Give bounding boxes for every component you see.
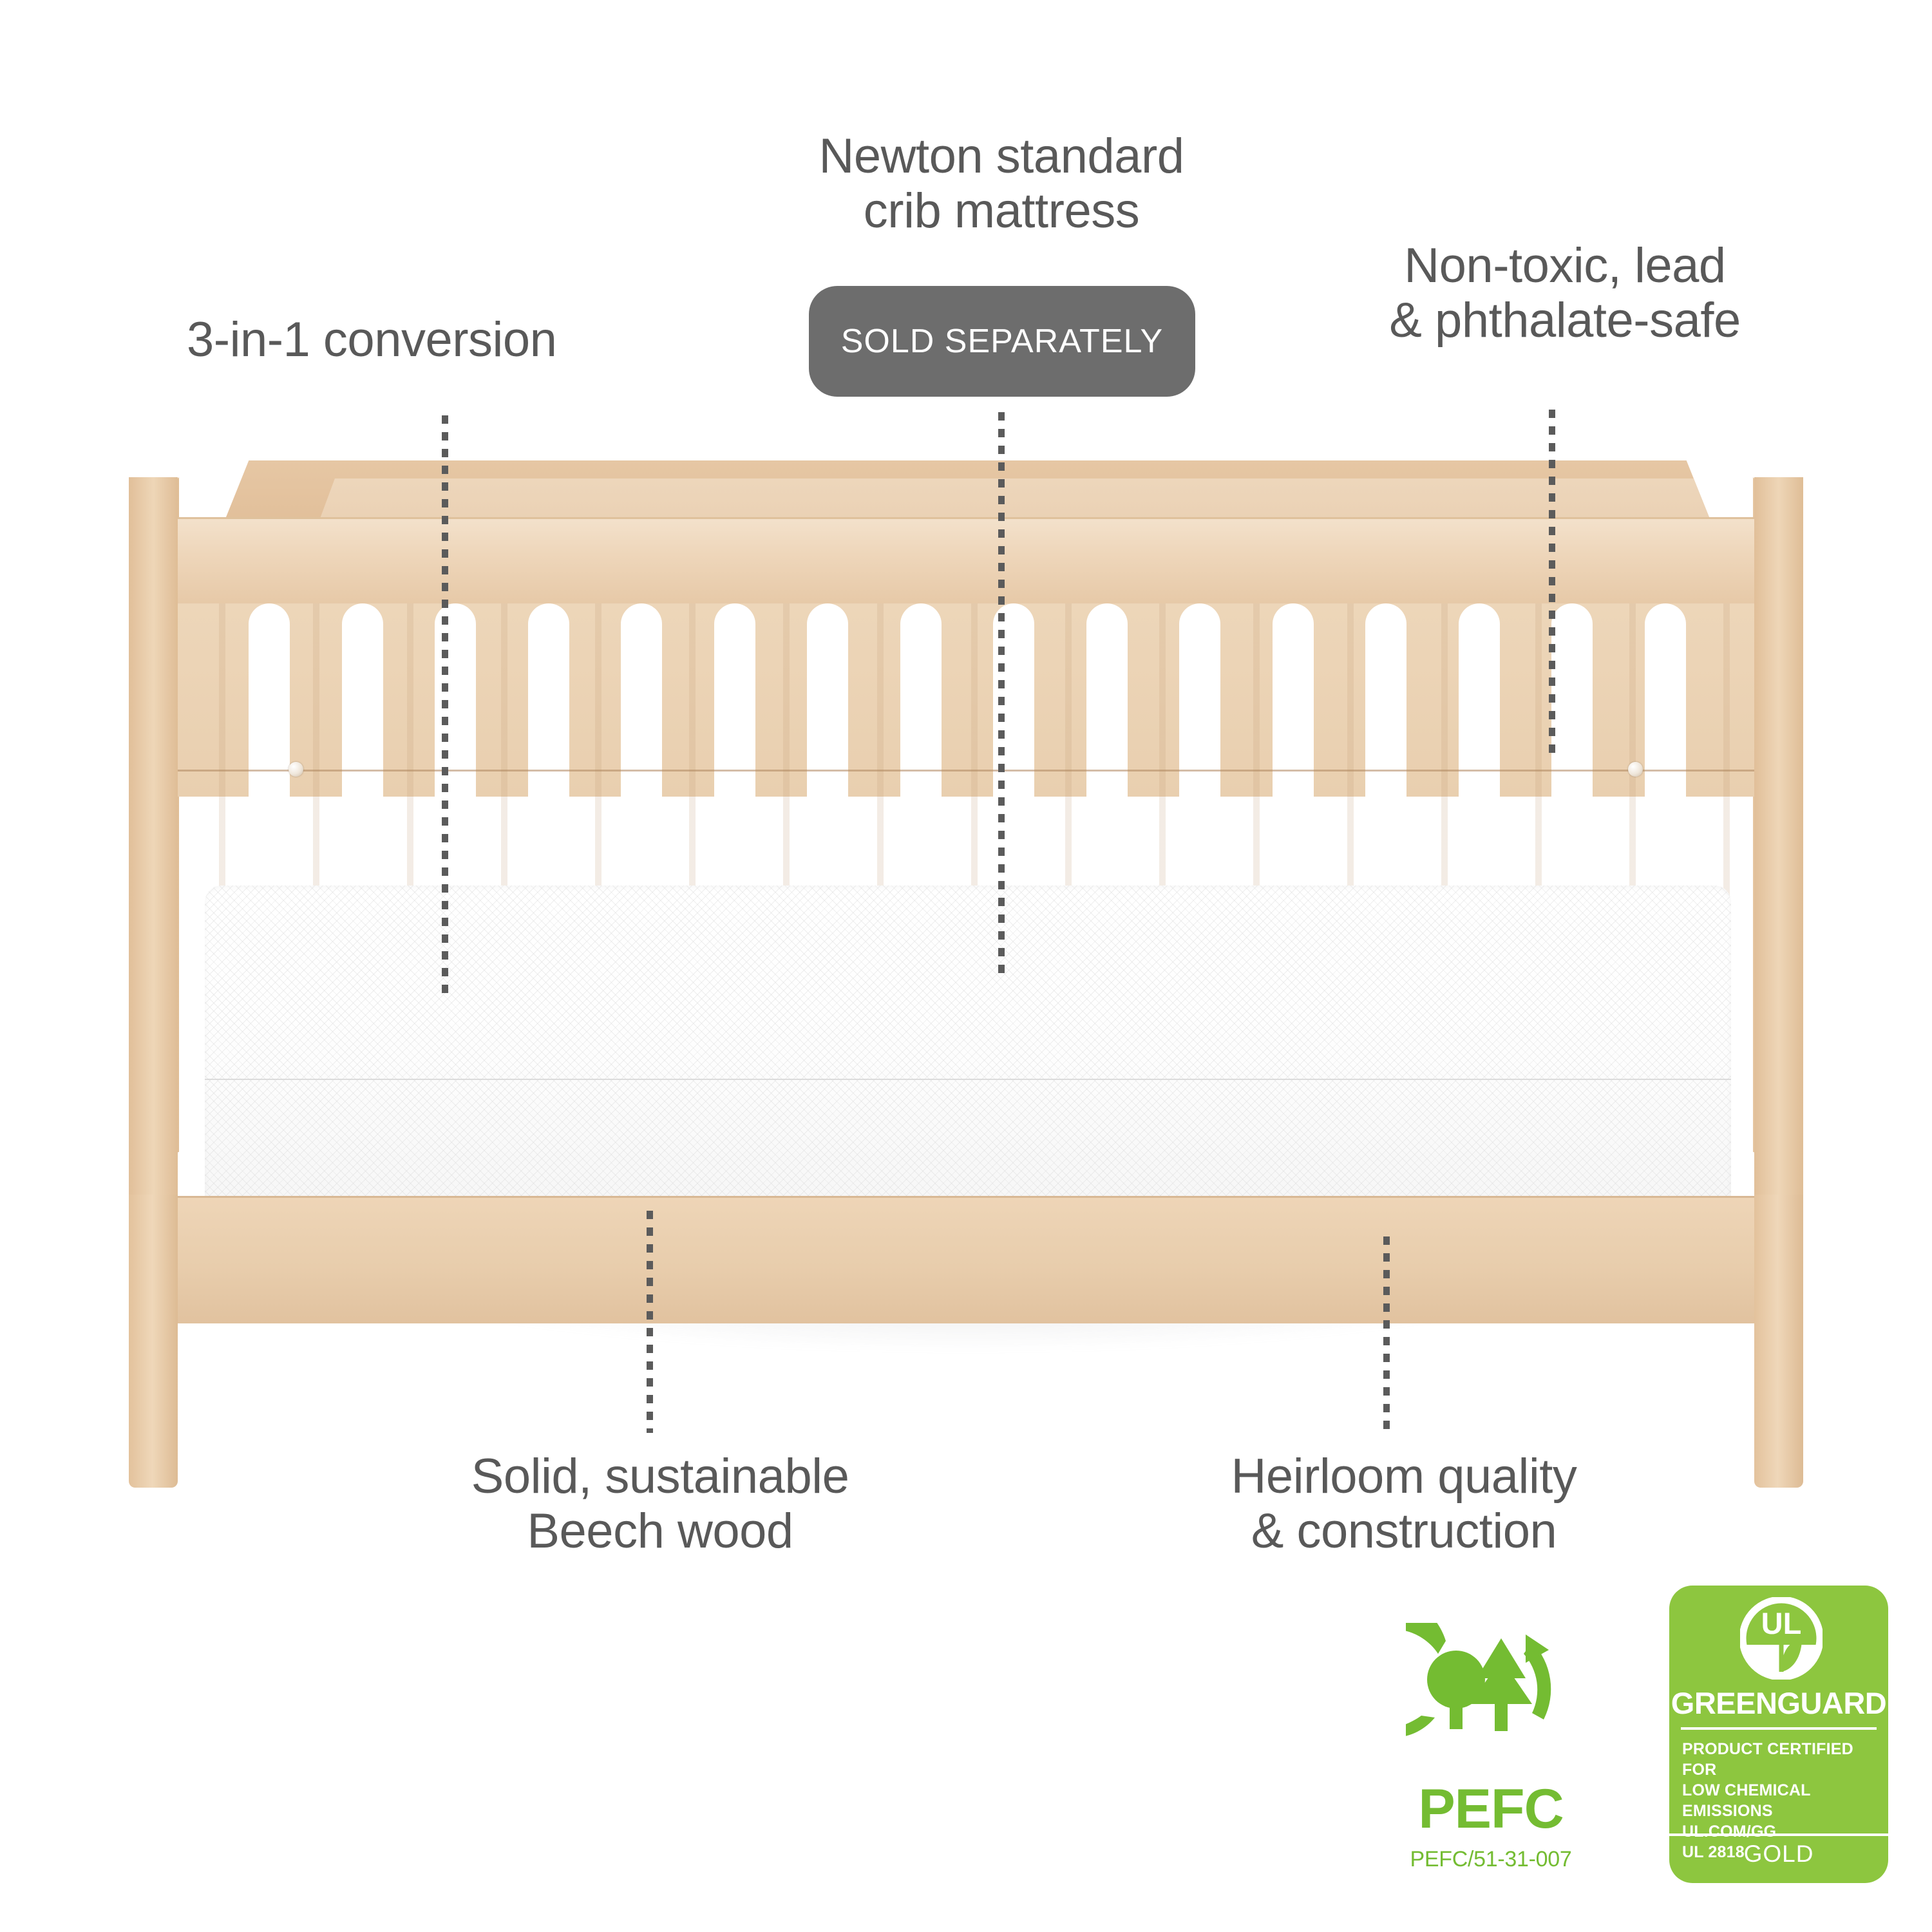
crib-leg-left (129, 1195, 178, 1488)
screw-cap-right (1628, 762, 1643, 777)
callout-solid-sustainable-beech-wood: Solid, sustainable Beech wood (386, 1449, 934, 1558)
greenguard-line-1: PRODUCT CERTIFIED FOR (1682, 1739, 1882, 1780)
leader-line-mattress (998, 412, 1005, 979)
mattress-mesh-texture (205, 885, 1731, 1207)
crib-joint-line (166, 770, 1768, 772)
leader-line-nontoxic (1549, 410, 1555, 757)
callout-heirloom-quality-construction: Heirloom quality & construction (1146, 1449, 1662, 1558)
status-badge-sold-separately: SOLD SEPARATELY (809, 286, 1195, 397)
infographic-canvas: newton 3-in-1 conversion Newton standard… (0, 0, 1932, 1932)
greenguard-line-3: UL.COM/GG (1682, 1821, 1882, 1842)
crib-leg-right (1754, 1195, 1803, 1488)
pefc-tree-arrow-icon (1406, 1623, 1572, 1783)
crib-front-stile-left (129, 477, 178, 1195)
mattress-seam (205, 1079, 1731, 1080)
greenguard-level: GOLD (1669, 1841, 1888, 1868)
crib-front-stile-right (1754, 477, 1803, 1195)
callout-3-in-1-conversion: 3-in-1 conversion (187, 312, 556, 367)
greenguard-divider (1681, 1727, 1877, 1730)
leader-line-conversion (442, 415, 448, 998)
crib-mattress: newton (205, 885, 1731, 1207)
greenguard-line-2: LOW CHEMICAL EMISSIONS (1682, 1780, 1882, 1821)
pefc-certification-logo: PEFC PEFC/51-31-007 (1394, 1623, 1587, 1900)
leader-line-heirloom (1383, 1236, 1390, 1433)
callout-newton-standard-crib-mattress: Newton standard crib mattress (760, 129, 1243, 238)
greenguard-divider-bottom (1669, 1833, 1888, 1836)
pefc-wordmark: PEFC (1394, 1784, 1587, 1834)
ul-greenguard-icon: UL (1740, 1597, 1823, 1680)
greenguard-gold-certification-badge: UL GREENGUARD PRODUCT CERTIFIED FOR LOW … (1669, 1586, 1888, 1883)
callout-non-toxic-lead-phthalate-safe: Non-toxic, lead & phthalate-safe (1327, 238, 1803, 348)
greenguard-title: GREENGUARD (1669, 1685, 1888, 1721)
crib-front-top-rail (166, 517, 1768, 608)
pefc-certificate-code: PEFC/51-31-007 (1394, 1847, 1587, 1872)
svg-text:UL: UL (1761, 1606, 1802, 1640)
crib-base-panel (166, 1196, 1768, 1323)
leader-line-beech (647, 1211, 653, 1433)
screw-cap-left (289, 762, 303, 777)
